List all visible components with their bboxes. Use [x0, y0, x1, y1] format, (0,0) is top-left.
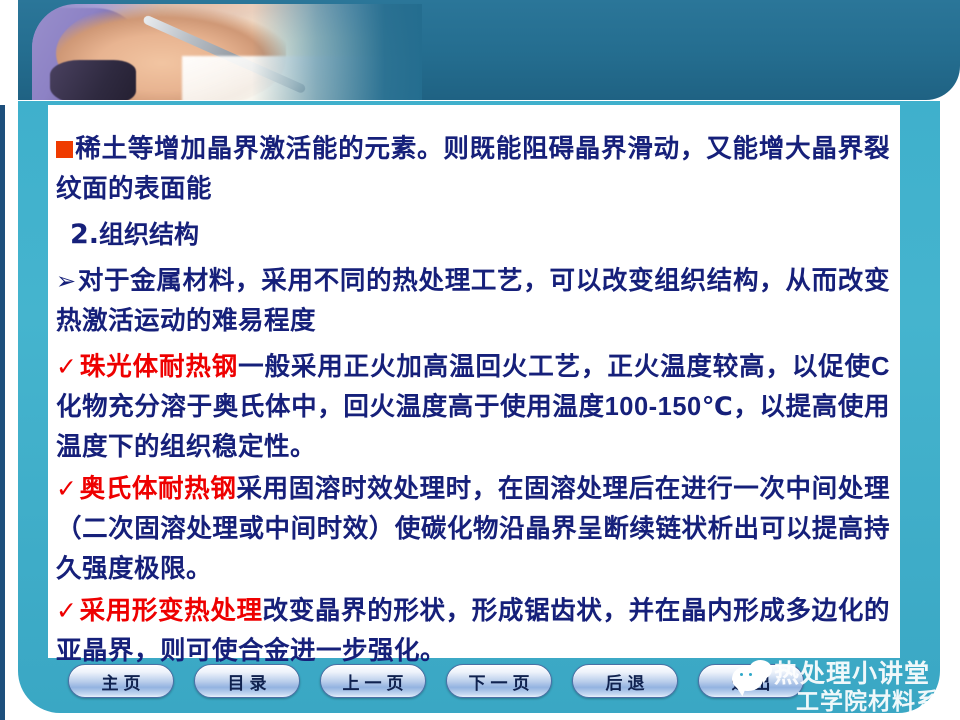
check-item-1-highlight: 珠光体耐热钢	[80, 352, 238, 382]
check-item-3: ✓采用形变热处理改变晶界的形状，形成锯齿状，并在晶内形成多边化的亚晶界，则可使合…	[56, 591, 890, 671]
photo-fade-overlay	[252, 4, 422, 100]
slide-navigation-bar: 主页 目录 上一页 下一页 后退 退出	[48, 660, 900, 712]
check-item-3-highlight: 采用形变热处理	[80, 596, 263, 626]
check-bullet-icon: ✓	[56, 474, 78, 503]
bullet-square-paragraph: 稀土等增加晶界激活能的元素。则既能阻碍晶界滑动，又能增大晶界裂纹面的表面能	[56, 129, 890, 209]
check-item-2: ✓奥氏体耐热钢采用固溶时效处理时，在固溶处理后在进行一次中间处理（二次固溶处理或…	[56, 469, 890, 589]
check-item-1-rest-b: 化物充分溶于奥氏体中，回火温度高于使用温度	[56, 392, 605, 422]
square-bullet-icon	[56, 141, 73, 158]
nav-button-next-page[interactable]: 下一页	[446, 664, 552, 698]
slide-header-band	[18, 0, 960, 100]
slide-root: 稀土等增加晶界激活能的元素。则既能阻碍晶界滑动，又能增大晶界裂纹面的表面能 2.…	[0, 0, 960, 720]
bullet-square-text: 稀土等增加晶界激活能的元素。则既能阻碍晶界滑动，又能增大晶界裂纹面的表面能	[56, 134, 890, 204]
nav-button-contents[interactable]: 目录	[194, 664, 300, 698]
check-item-1-unit: ℃	[702, 392, 734, 422]
section-heading: 2.组织结构	[70, 217, 890, 253]
hand-holding-pen-photo	[32, 4, 422, 100]
arrow-bullet-paragraph: ➢对于金属材料，采用不同的热处理工艺，可以改变组织结构，从而改变热激活运动的难易…	[56, 261, 890, 341]
check-item-2-highlight: 奥氏体耐热钢	[80, 474, 237, 504]
section-heading-number: 2.	[70, 219, 99, 250]
slide-content: 稀土等增加晶界激活能的元素。则既能阻碍晶界滑动，又能增大晶界裂纹面的表面能 2.…	[48, 105, 900, 658]
arrow-bullet-text: 对于金属材料，采用不同的热处理工艺，可以改变组织结构，从而改变热激活运动的难易程…	[56, 266, 890, 336]
check-bullet-icon: ✓	[56, 596, 78, 625]
nav-button-back[interactable]: 后退	[572, 664, 678, 698]
check-item-1-latin-b: 100-150	[605, 393, 702, 421]
left-navy-rail	[0, 105, 5, 720]
nav-button-exit[interactable]: 退出	[698, 664, 804, 698]
left-rail-spacer	[0, 0, 5, 100]
check-item-1-latin-a: C	[871, 353, 890, 381]
photo-cuff-shape	[50, 60, 136, 100]
nav-button-prev-page[interactable]: 上一页	[320, 664, 426, 698]
section-heading-text: 组织结构	[99, 220, 199, 249]
arrow-bullet-icon: ➢	[56, 267, 77, 295]
check-item-1-rest-a: 一般采用正火加高温回火工艺，正火温度较高，以促使	[238, 352, 871, 382]
check-bullet-icon: ✓	[56, 352, 78, 381]
check-item-1: ✓珠光体耐热钢一般采用正火加高温回火工艺，正火温度较高，以促使C化物充分溶于奥氏…	[56, 347, 890, 467]
nav-button-home[interactable]: 主页	[68, 664, 174, 698]
